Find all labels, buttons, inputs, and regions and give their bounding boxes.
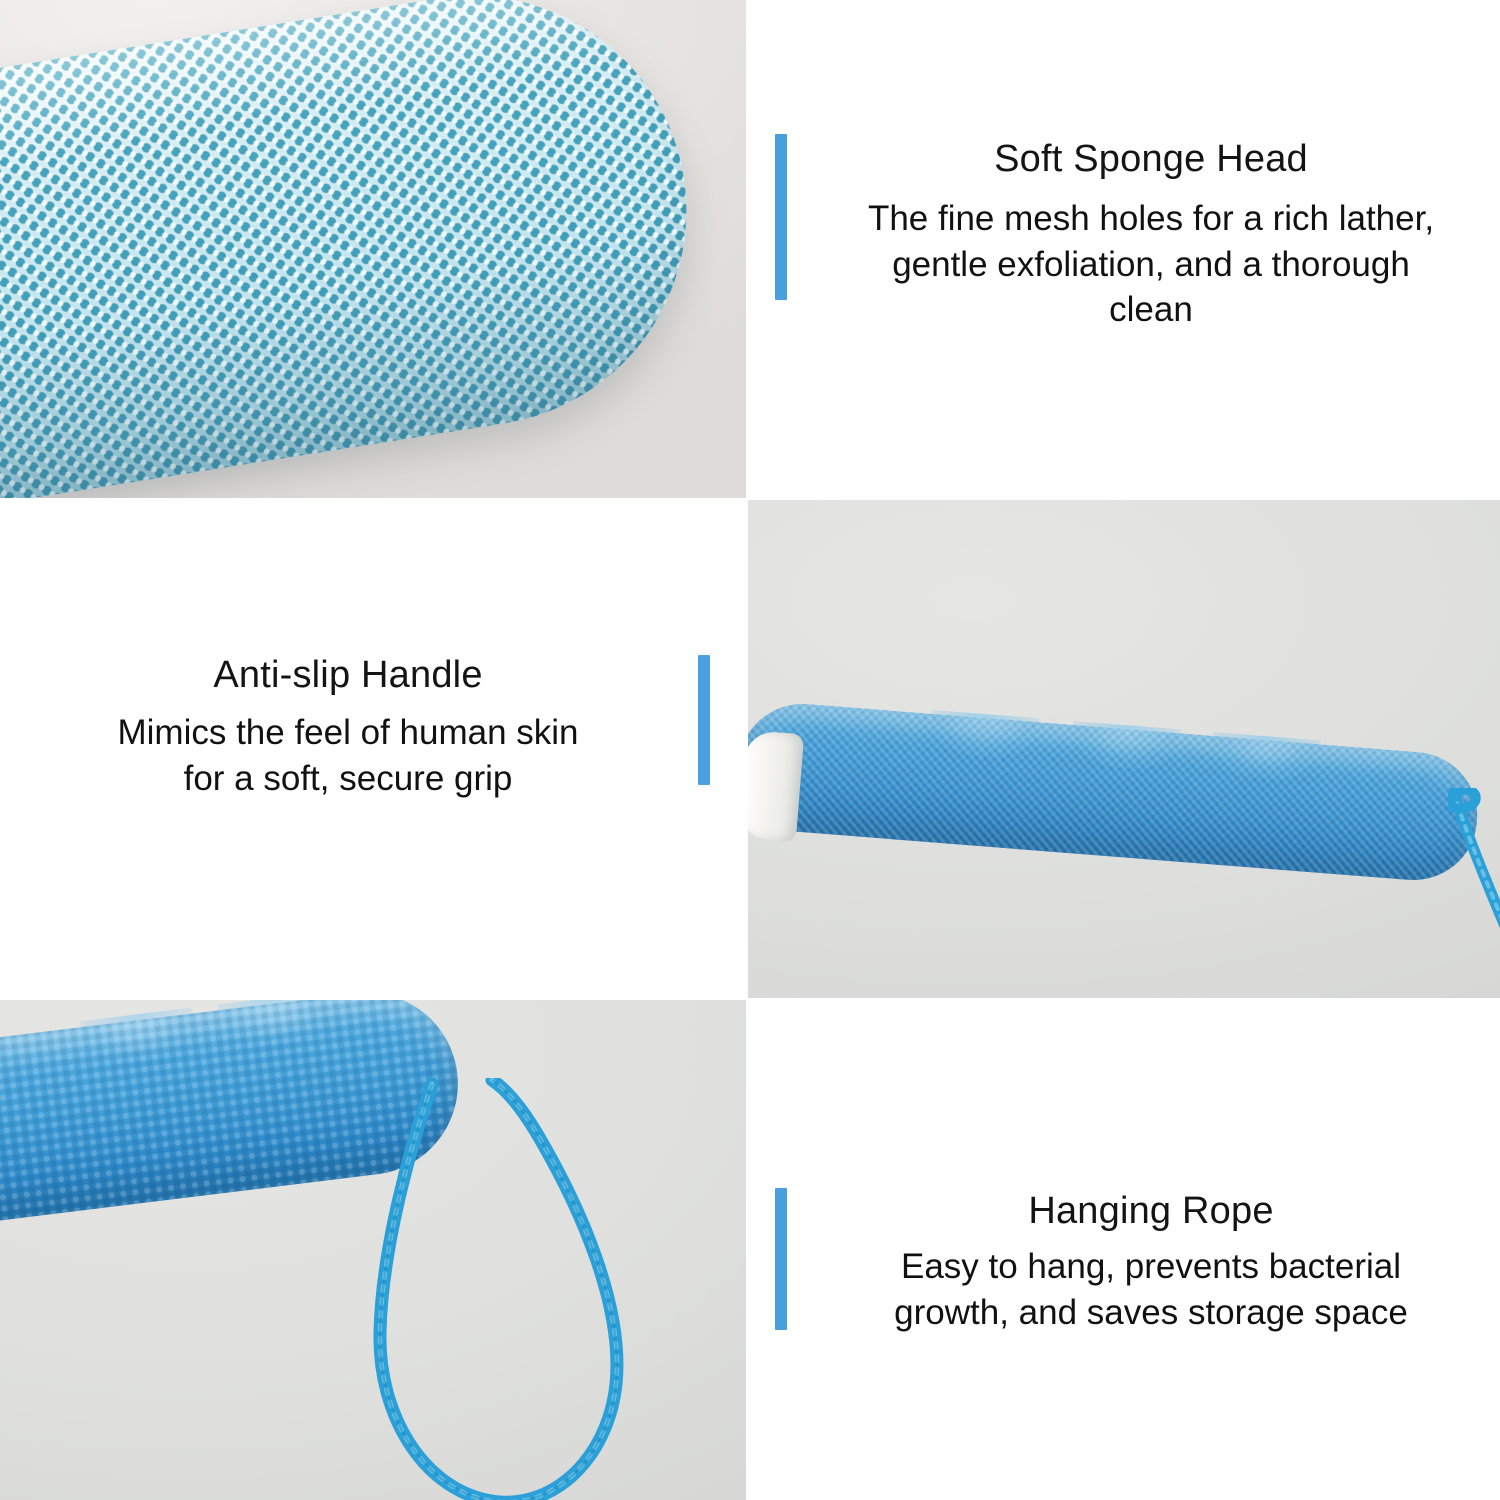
feature-heading: Anti-slip Handle bbox=[10, 652, 686, 698]
handle-neck-cap bbox=[748, 730, 804, 842]
feature-text-hanging-rope: Hanging Rope Easy to hang, prevents bact… bbox=[775, 1188, 1500, 1335]
feature-text-soft-sponge-head: Soft Sponge Head The fine mesh holes for… bbox=[775, 134, 1500, 333]
hanging-rope-strand bbox=[1448, 788, 1500, 998]
finger-groove bbox=[217, 1000, 334, 1050]
feature-body-line: gentle exfoliation, and a thorough bbox=[813, 242, 1489, 288]
finger-groove bbox=[1210, 732, 1321, 782]
feature-copy: Anti-slip Handle Mimics the feel of huma… bbox=[10, 652, 686, 801]
feature-heading: Hanging Rope bbox=[813, 1188, 1489, 1234]
rope-photo-panel bbox=[0, 1000, 746, 1500]
accent-bar-icon bbox=[775, 1188, 787, 1330]
hanging-rope-loop bbox=[358, 1078, 698, 1500]
finger-groove bbox=[929, 710, 1040, 760]
feature-body: The fine mesh holes for a rich lather, g… bbox=[813, 196, 1489, 333]
feature-body-line: Easy to hang, prevents bacterial bbox=[813, 1244, 1489, 1290]
handle-photo-panel bbox=[748, 500, 1500, 998]
feature-body: Mimics the feel of human skin for a soft… bbox=[10, 710, 686, 801]
feature-body-line: clean bbox=[813, 287, 1489, 333]
feature-body-line: growth, and saves storage space bbox=[813, 1290, 1489, 1336]
feature-copy: Soft Sponge Head The fine mesh holes for… bbox=[813, 136, 1489, 333]
feature-body: Easy to hang, prevents bacterial growth,… bbox=[813, 1244, 1489, 1335]
feature-body-line: Mimics the feel of human skin bbox=[10, 710, 686, 756]
feature-heading: Soft Sponge Head bbox=[813, 136, 1489, 182]
finger-groove bbox=[1070, 721, 1181, 771]
accent-bar-icon bbox=[698, 655, 710, 785]
feature-text-anti-slip-handle: Anti-slip Handle Mimics the feel of huma… bbox=[0, 652, 746, 801]
accent-bar-icon bbox=[775, 134, 787, 300]
feature-body-line: for a soft, secure grip bbox=[10, 756, 686, 802]
feature-copy: Hanging Rope Easy to hang, prevents bact… bbox=[813, 1188, 1489, 1335]
sponge-head-photo-panel bbox=[0, 0, 746, 498]
product-feature-infographic: Soft Sponge Head The fine mesh holes for… bbox=[0, 0, 1500, 1500]
feature-body-line: The fine mesh holes for a rich lather, bbox=[813, 196, 1489, 242]
